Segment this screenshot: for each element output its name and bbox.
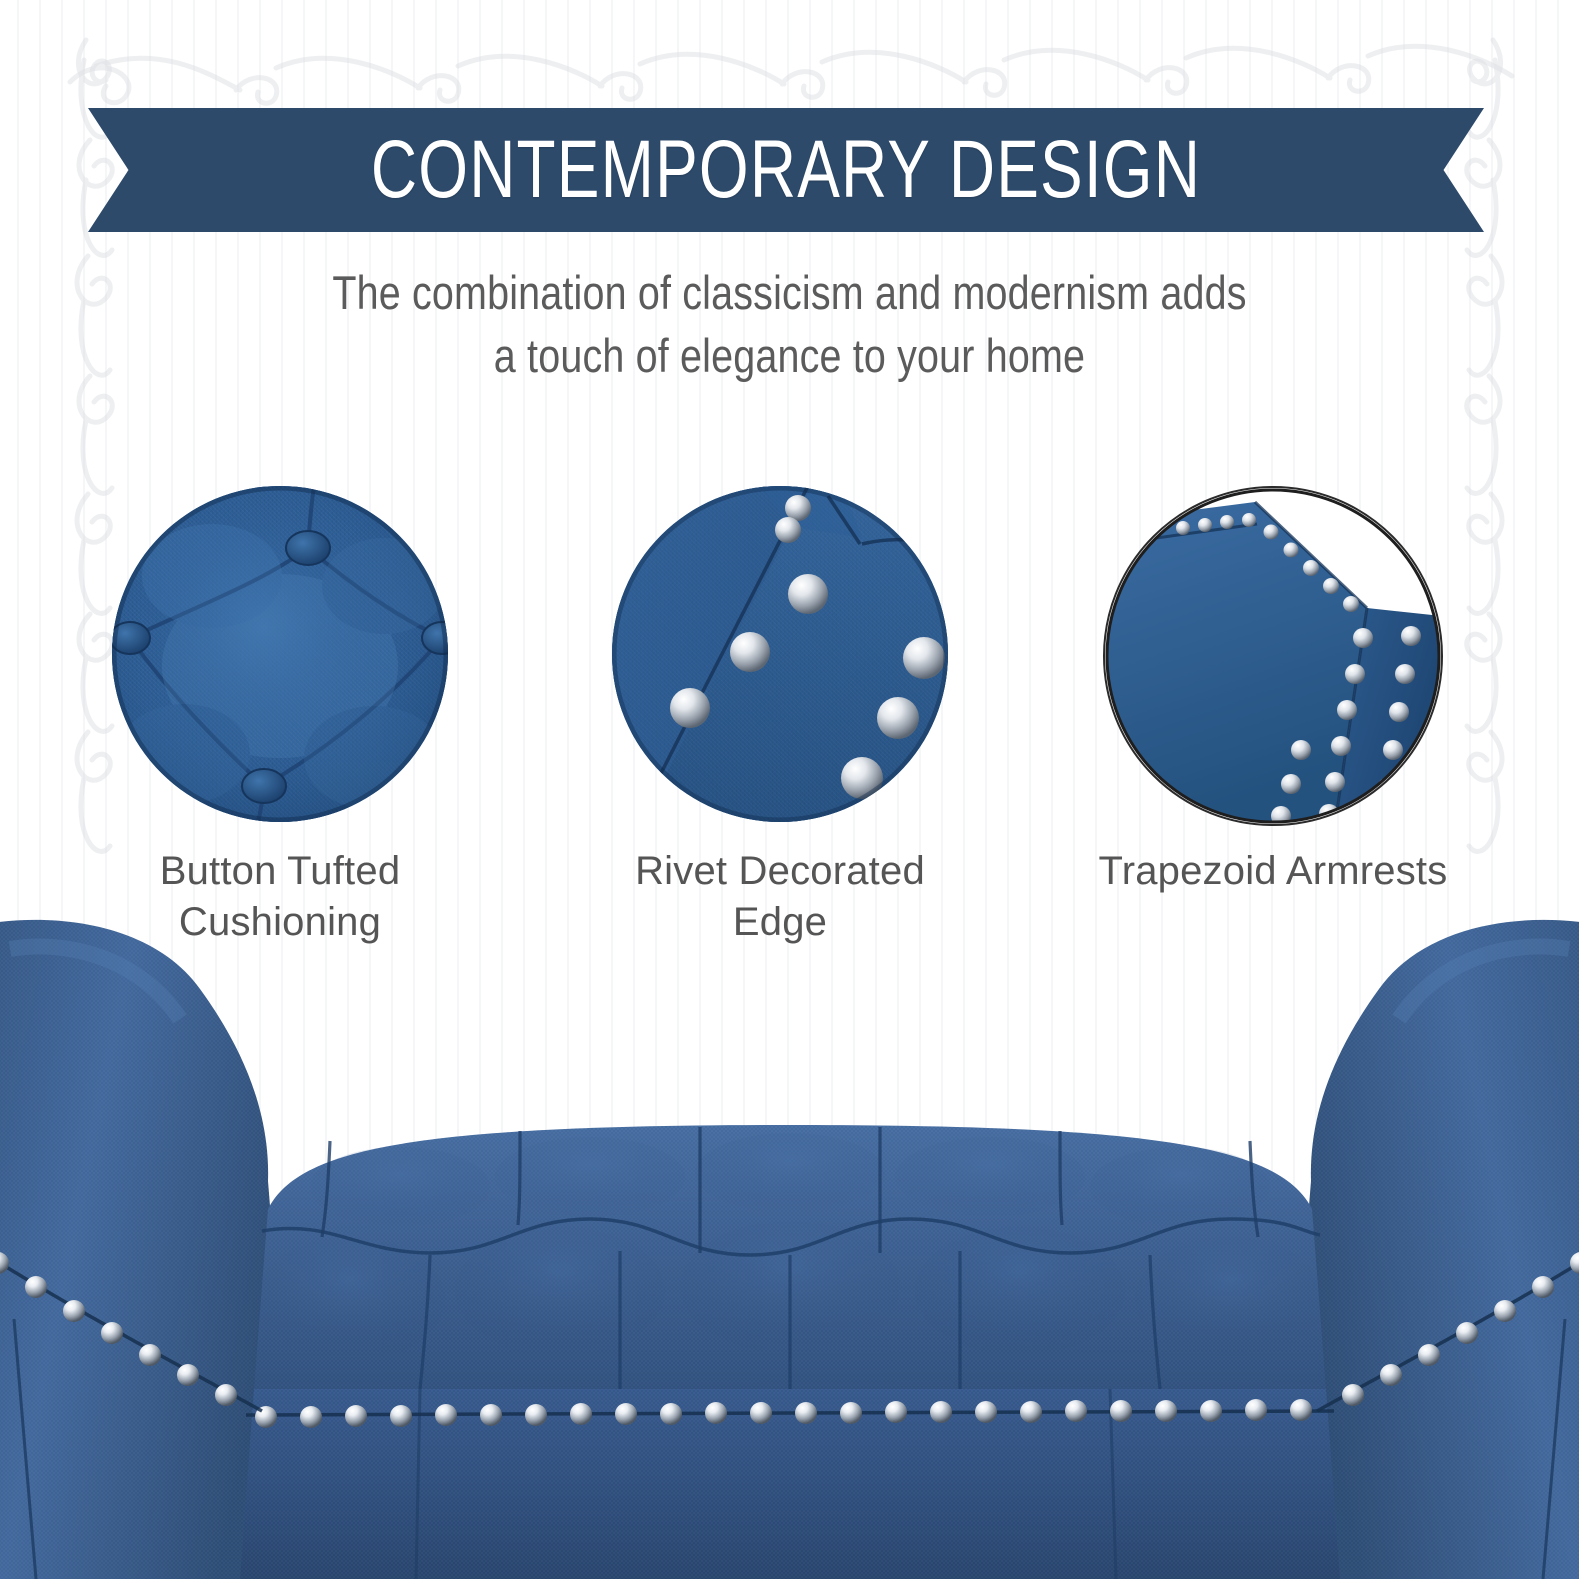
seat-cushion xyxy=(254,1125,1326,1389)
feature-trapezoid-armrests: Trapezoid Armrests xyxy=(1093,486,1453,826)
header-ribbon-banner: CONTEMPORARY DESIGN xyxy=(88,108,1484,232)
infographic-canvas: CONTEMPORARY DESIGN The combination of c… xyxy=(0,0,1579,1579)
feature-highlights-row: Button Tufted Cushioning xyxy=(0,486,1579,956)
feature-rivet-decorated-edge: Rivet Decorated Edge xyxy=(600,486,960,822)
caption-line-1: Rivet Decorated xyxy=(600,846,960,897)
product-photo-storage-bench xyxy=(0,919,1579,1579)
feature-caption-trapezoid-armrests: Trapezoid Armrests xyxy=(1093,846,1453,897)
subtitle-line-2: a touch of elegance to your home xyxy=(126,325,1452,388)
subtitle-line-1: The combination of classicism and modern… xyxy=(126,262,1452,325)
feature-button-tufted-cushioning: Button Tufted Cushioning xyxy=(100,486,460,822)
caption-line-1: Button Tufted xyxy=(100,846,460,897)
caption-line-1: Trapezoid Armrests xyxy=(1093,846,1453,897)
feature-image-trapezoid-armrest xyxy=(1103,486,1443,826)
feature-image-button-tufted xyxy=(112,486,448,822)
filigree-border-top-icon xyxy=(0,4,1579,124)
feature-image-rivet-edge xyxy=(612,486,948,822)
page-title: CONTEMPORARY DESIGN xyxy=(242,108,1331,232)
subtitle-text: The combination of classicism and modern… xyxy=(0,262,1579,387)
